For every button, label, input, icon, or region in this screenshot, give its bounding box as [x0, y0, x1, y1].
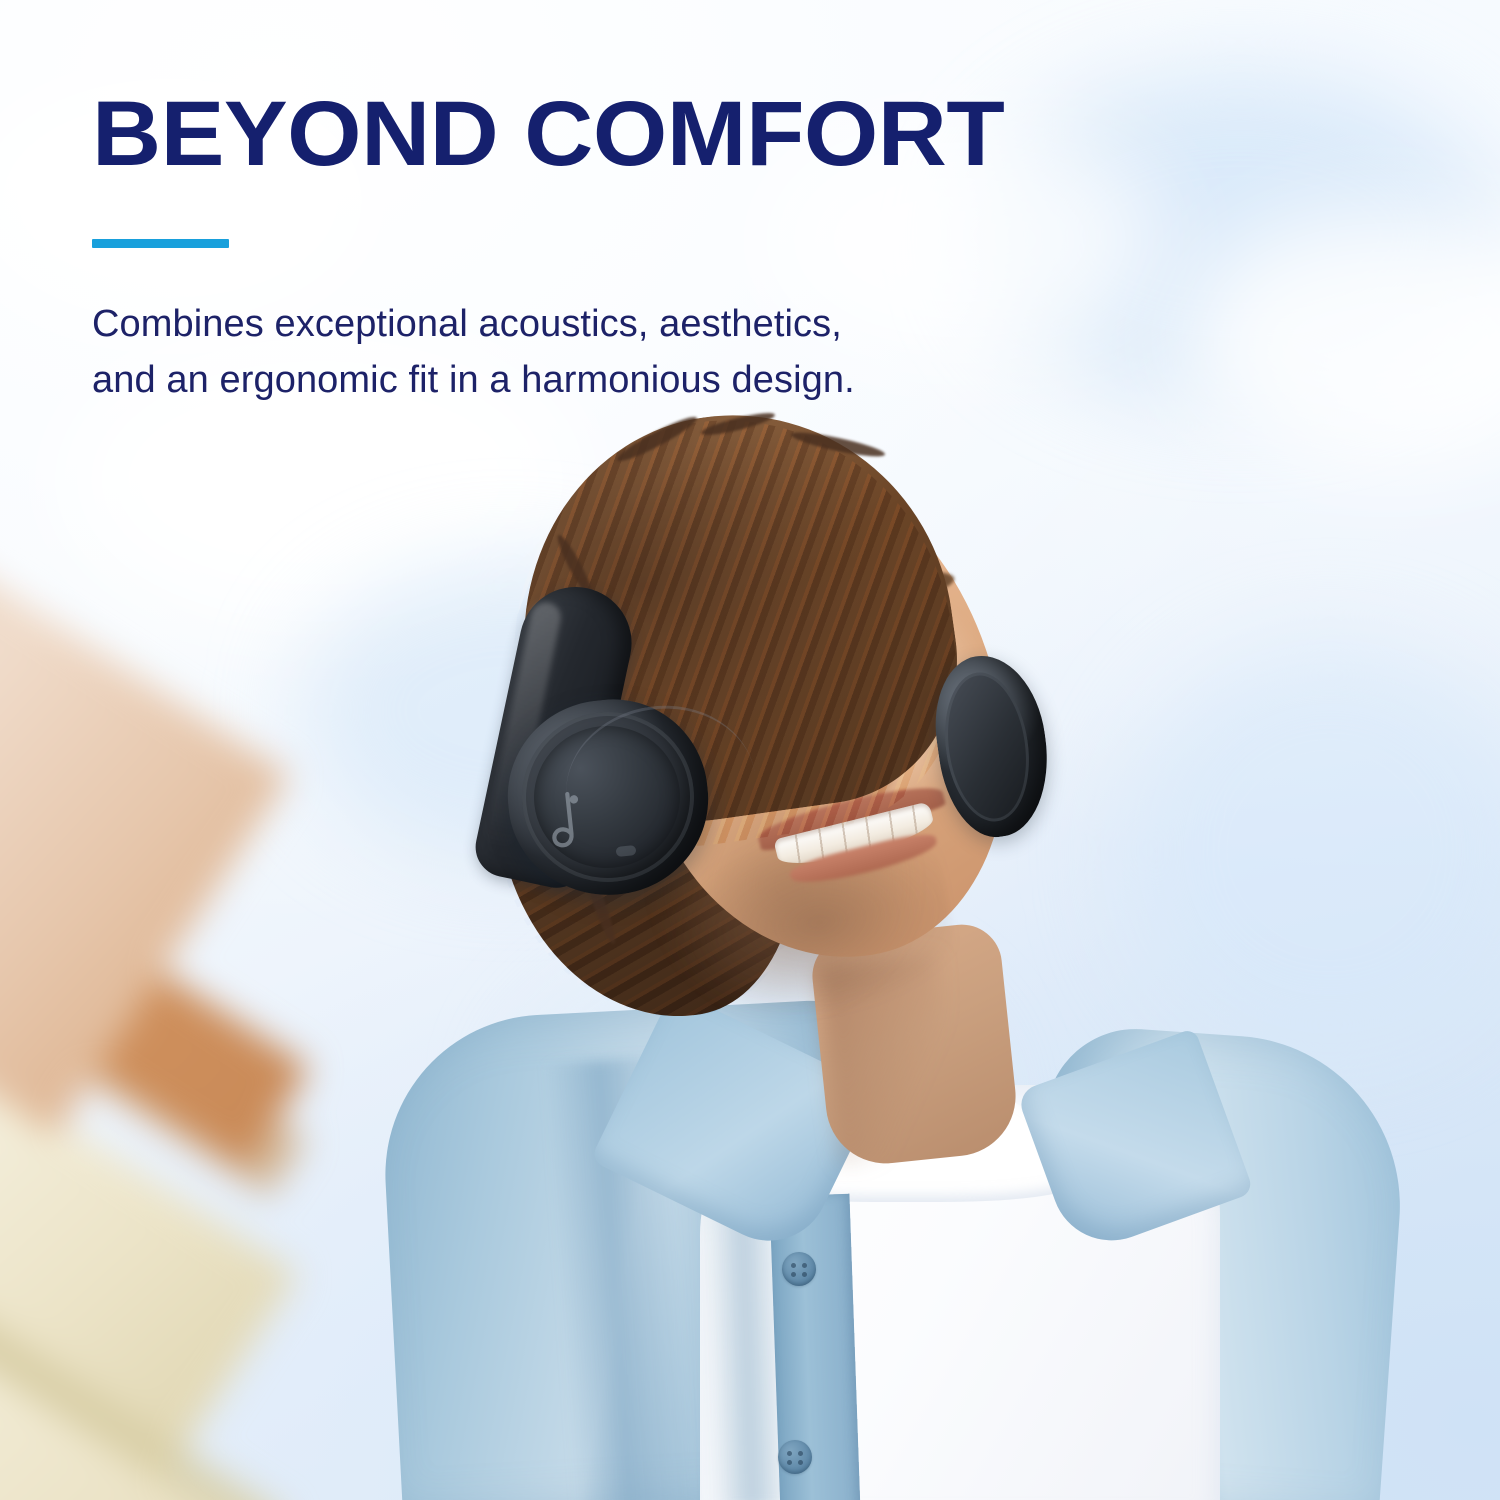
page-title: BEYOND COMFORT: [92, 88, 1004, 180]
subtitle-line-2: and an ergonomic fit in a harmonious des…: [92, 352, 1112, 408]
shirt-button: [782, 1252, 816, 1286]
accent-divider: [92, 239, 229, 248]
shirt-button: [778, 1440, 812, 1474]
soundcore-logo-icon: [543, 788, 595, 852]
subtitle-line-1: Combines exceptional acoustics, aestheti…: [92, 296, 1112, 352]
banner-canvas: BEYOND COMFORT Combines exceptional acou…: [0, 0, 1500, 1500]
subtitle: Combines exceptional acoustics, aestheti…: [92, 296, 1112, 408]
person-photo: [0, 0, 1500, 1500]
